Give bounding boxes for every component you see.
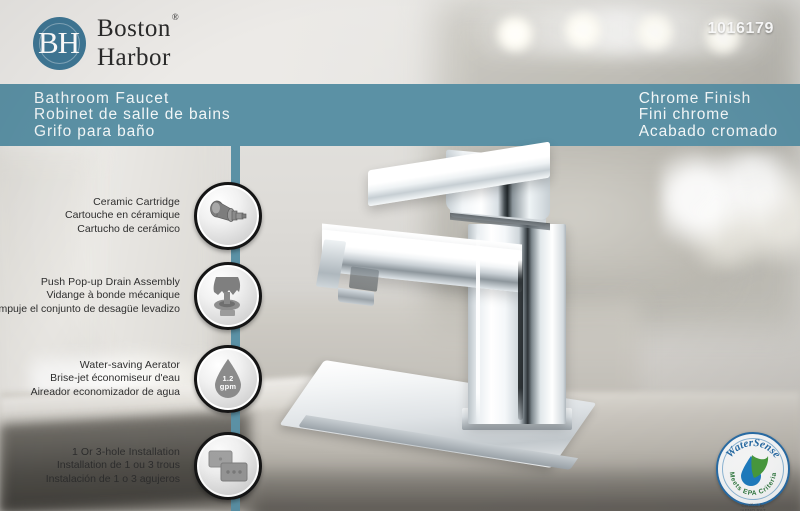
- flow-rate-badge: 1.2 gpm: [197, 375, 259, 391]
- product-name-fr: Robinet de salle de bains: [34, 107, 231, 123]
- feature-label-fr: Cartouche en céramique: [65, 209, 180, 223]
- brand-line-1: Boston®: [97, 16, 178, 41]
- background-flowers: [660, 150, 800, 270]
- sku-number: 1016179: [708, 20, 775, 38]
- faucet-dark-reflection: [518, 260, 523, 420]
- feature-row-hole-installation: 1 Or 3-hole Installation Installation de…: [0, 432, 262, 500]
- monogram-text: BH: [38, 27, 79, 58]
- finish-fr: Fini chrome: [639, 107, 778, 123]
- hole-installation-glyph: [207, 448, 249, 484]
- feature-labels: Push Pop-up Drain Assembly Vidange à bon…: [0, 276, 194, 317]
- faucet-spout-shadow: [349, 266, 379, 292]
- faucet-aerator-outlet: [338, 288, 374, 306]
- faucet-product-photo: [300, 140, 660, 500]
- feature-label-en: Ceramic Cartridge: [65, 196, 180, 210]
- faucet-spout-end: [316, 239, 346, 288]
- faucet-highlight-reflection: [476, 232, 480, 422]
- title-band: Bathroom Faucet Robinet de salle de bain…: [0, 84, 800, 146]
- finish-es: Acabado cromado: [639, 124, 778, 140]
- feature-label-fr: Brise-jet économiseur d'eau: [31, 372, 180, 386]
- ceramic-cartridge-icon: [194, 182, 262, 250]
- finish-en: Chrome Finish: [639, 91, 778, 107]
- product-name-es: Grifo para baño: [34, 124, 231, 140]
- feature-labels: Water-saving Aerator Brise-jet économise…: [31, 359, 194, 400]
- watersense-certification: Certified by IAPMO R&T: [718, 503, 788, 511]
- water-drop-icon: 1.2 gpm: [194, 345, 262, 413]
- product-package-image: BH Boston® Harbor 1016179 Bathroom Fauce…: [0, 0, 800, 511]
- watersense-logo-icon: WaterSense Meets EPA Criteria: [718, 434, 788, 504]
- watersense-leaf-icon: [751, 455, 768, 478]
- push-popup-drain-glyph: [208, 275, 248, 317]
- finish-block: Chrome Finish Fini chrome Acabado cromad…: [639, 91, 778, 140]
- feature-row-push-popup-drain: Push Pop-up Drain Assembly Vidange à bon…: [0, 262, 262, 330]
- brand-wordmark: Boston® Harbor: [97, 16, 178, 70]
- feature-row-water-saving-aerator: Water-saving Aerator Brise-jet économise…: [0, 345, 262, 413]
- feature-label-es: Cartucho de cerámico: [65, 223, 180, 237]
- feature-labels: Ceramic Cartridge Cartouche en céramique…: [65, 196, 194, 237]
- feature-label-fr: Vidange à bonde mécanique: [0, 289, 180, 303]
- feature-label-es: Instalación de 1 o 3 agujeros: [46, 473, 180, 487]
- product-name-en: Bathroom Faucet: [34, 91, 231, 107]
- flow-rate-unit: gpm: [197, 383, 259, 391]
- registered-trademark-icon: ®: [172, 12, 179, 22]
- feature-label-en: Push Pop-up Drain Assembly: [0, 276, 180, 290]
- brand-line-2: Harbor: [97, 45, 178, 70]
- boston-harbor-monogram-icon: BH: [33, 17, 86, 70]
- push-popup-drain-icon: [194, 262, 262, 330]
- feature-label-fr: Installation de 1 ou 3 trous: [46, 459, 180, 473]
- feature-label-es: Aireador economizador de agua: [31, 386, 180, 400]
- feature-label-en: Water-saving Aerator: [31, 359, 180, 373]
- hole-installation-icon: [194, 432, 262, 500]
- product-name-block: Bathroom Faucet Robinet de salle de bain…: [34, 91, 231, 140]
- feature-label-en: 1 Or 3-hole Installation: [46, 446, 180, 460]
- feature-label-es: Empuje el conjunto de desagüe levadizo: [0, 303, 180, 317]
- feature-labels: 1 Or 3-hole Installation Installation de…: [46, 446, 194, 487]
- feature-row-ceramic-cartridge: Ceramic Cartridge Cartouche en céramique…: [0, 182, 262, 250]
- header: BH Boston® Harbor 1016179: [0, 0, 800, 84]
- brand-line-1-text: Boston: [97, 15, 171, 42]
- brand-logo: BH Boston® Harbor: [33, 16, 178, 70]
- watersense-badge: WaterSense Meets EPA Criteria Certified …: [716, 432, 790, 506]
- ceramic-cartridge-glyph: [207, 199, 249, 233]
